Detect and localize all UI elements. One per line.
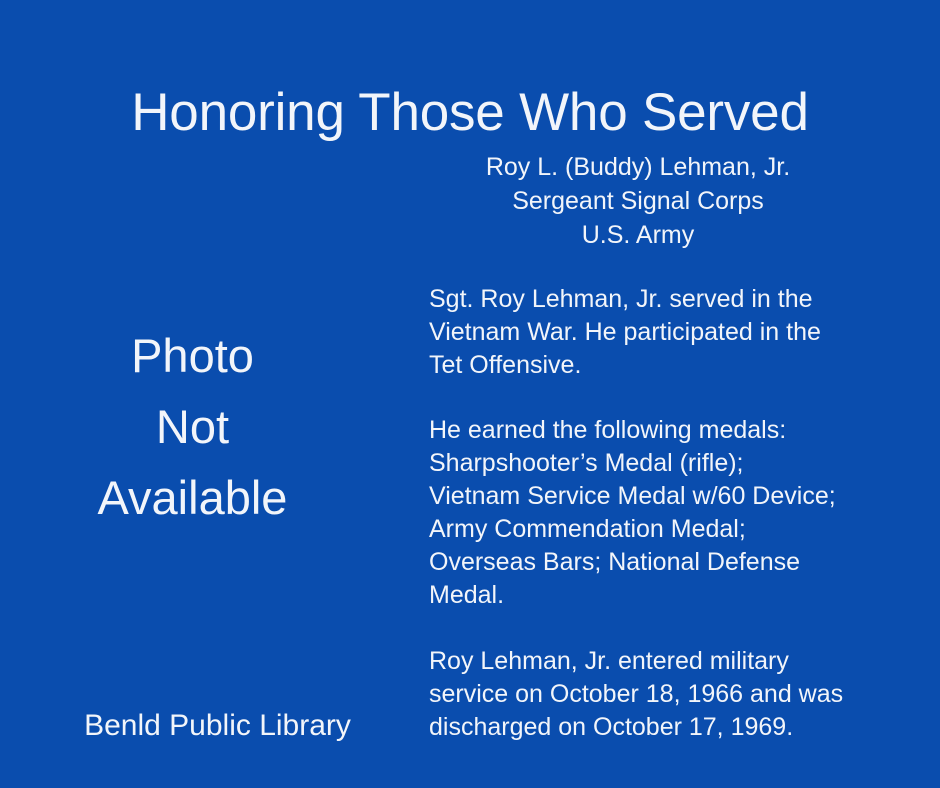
biography-column: Roy L. (Buddy) Lehman, Jr. Sergeant Sign…: [429, 150, 869, 769]
service-member-branch: U.S. Army: [420, 218, 856, 252]
medals-paragraph-line-6: Medal.: [429, 579, 869, 612]
service-member-name: Roy L. (Buddy) Lehman, Jr.: [420, 150, 856, 184]
service-paragraph-line-2: Vietnam War. He participated in the: [429, 316, 869, 349]
medals-paragraph: He earned the following medals: Sharpsho…: [429, 414, 869, 612]
medals-paragraph-line-4: Army Commendation Medal;: [429, 513, 869, 546]
poster-canvas: Honoring Those Who Served Photo Not Avai…: [0, 0, 940, 788]
photo-placeholder-line-1: Photo: [20, 320, 365, 391]
photo-placeholder-line-2: Not: [20, 391, 365, 462]
photo-placeholder-line-3: Available: [20, 462, 365, 533]
biography-text: Sgt. Roy Lehman, Jr. served in the Vietn…: [429, 283, 869, 744]
dates-paragraph: Roy Lehman, Jr. entered military service…: [429, 645, 869, 744]
dates-paragraph-line-1: Roy Lehman, Jr. entered military: [429, 645, 869, 678]
service-member-rank-unit: Sergeant Signal Corps: [420, 184, 856, 218]
dates-paragraph-line-2: service on October 18, 1966 and was: [429, 678, 869, 711]
service-member-heading: Roy L. (Buddy) Lehman, Jr. Sergeant Sign…: [420, 150, 856, 252]
photo-placeholder-block: Photo Not Available: [20, 320, 365, 533]
service-paragraph-line-3: Tet Offensive.: [429, 349, 869, 382]
service-paragraph: Sgt. Roy Lehman, Jr. served in the Vietn…: [429, 283, 869, 382]
photo-not-available-text: Photo Not Available: [20, 320, 365, 533]
medals-paragraph-line-5: Overseas Bars; National Defense: [429, 546, 869, 579]
medals-paragraph-line-1: He earned the following medals:: [429, 414, 869, 447]
service-paragraph-line-1: Sgt. Roy Lehman, Jr. served in the: [429, 283, 869, 316]
medals-paragraph-line-2: Sharpshooter’s Medal (rifle);: [429, 447, 869, 480]
page-title: Honoring Those Who Served: [0, 82, 940, 144]
dates-paragraph-line-3: discharged on October 17, 1969.: [429, 711, 869, 744]
medals-paragraph-line-3: Vietnam Service Medal w/60 Device;: [429, 480, 869, 513]
library-credit: Benld Public Library: [20, 707, 415, 745]
